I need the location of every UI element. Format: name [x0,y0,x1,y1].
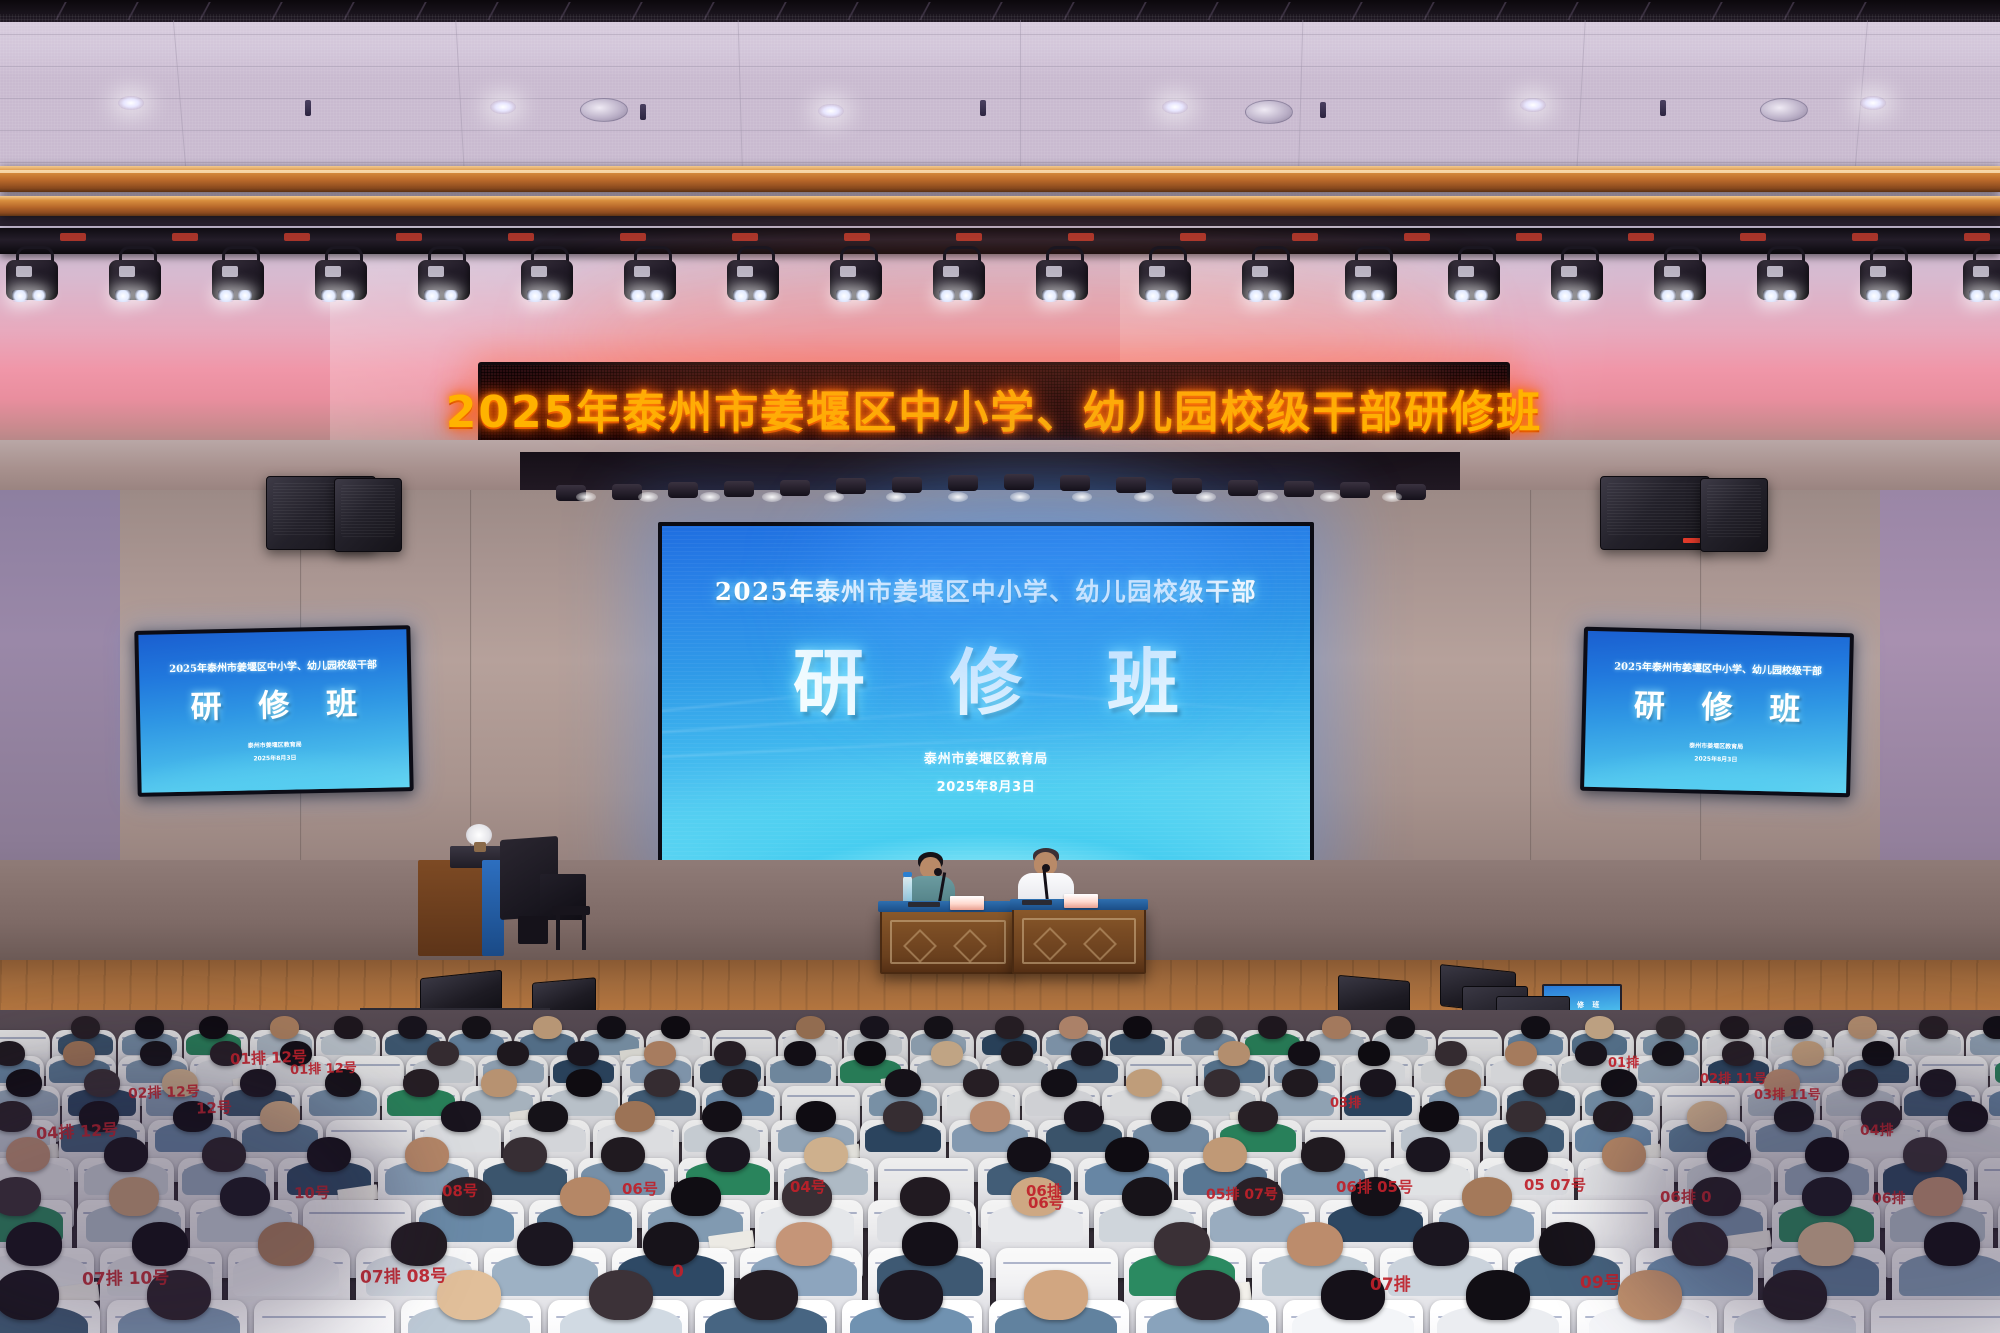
audience-member-head [643,1222,699,1266]
soffit-wash-light [1340,482,1370,498]
audience-member-head [1007,1137,1051,1172]
par-lens-secondary [135,290,149,301]
soffit-wash-light [836,478,866,494]
stage-par-light [4,246,60,312]
audience-member-head [1506,1101,1546,1132]
sprinkler-head [1320,102,1326,118]
audience-member-head [1301,1137,1345,1172]
truss-safety-clip [396,233,422,241]
par-lens [424,290,440,302]
par-lens-secondary [1062,290,1076,301]
audience-member-head [1322,1016,1351,1039]
soffit-light-glow [1320,492,1340,502]
audience-member-head [644,1069,680,1097]
audience-chair[interactable] [1871,1300,2000,1333]
audience-member-head [104,1137,148,1172]
truss-safety-clip [1068,233,1094,241]
audience-member-head [260,1101,300,1132]
par-label-tag [428,266,444,277]
par-label-tag [1458,266,1474,277]
audience-member-head [1288,1041,1320,1066]
audience-member-head [1176,1270,1240,1320]
audience-member-head [883,1101,923,1132]
audience-member-head [1151,1101,1191,1132]
desk-pad-right [1022,900,1052,905]
audience-member-head [6,1069,42,1097]
piano-pedal-column [518,916,548,944]
audience-member-head [1001,1041,1033,1066]
audience-member-head [597,1016,626,1039]
ceiling-smoke-detector [1760,98,1808,122]
audience-member-head [1842,1069,1878,1097]
audience-member-head [1652,1041,1684,1066]
par-lens [527,290,543,302]
audience-member-head [258,1222,314,1266]
audience-member-head [714,1041,746,1066]
audience-member-head [1154,1222,1210,1266]
audience-member-head [1602,1137,1646,1172]
stage-par-light [416,246,472,312]
left-monitor-surface: 2025年泰州市姜堰区中小学、幼儿园校级干部 研 修 班 泰州市姜堰区教育局 2… [138,629,409,793]
main-screen-surface: 2025年泰州市姜堰区中小学、幼儿园校级干部 研 修 班 泰州市姜堰区教育局 2… [662,526,1310,864]
truss-safety-clip [60,233,86,241]
audience-member-head [71,1016,100,1039]
audience-member-head [0,1177,41,1216]
ceiling-downlight [490,100,516,114]
par-lens-secondary [1577,290,1591,301]
soffit-light-glow [948,492,968,502]
audience-member-head [79,1101,119,1132]
ceiling-seam-vertical [1020,20,1021,190]
ceiling-smoke-detector [580,98,628,122]
audience-member-head [0,1041,25,1066]
ceiling-seam [0,162,2000,163]
stage-par-light [519,246,575,312]
par-label-tag [1252,266,1268,277]
soffit-light-glow [700,492,720,502]
right-side-monitor[interactable]: 2025年泰州市姜堰区中小学、幼儿园校级干部 研 修 班 泰州市姜堰区教育局 2… [1580,627,1854,798]
speaker-grille [1607,483,1703,535]
audience-chair[interactable] [254,1300,394,1333]
audience-member-head [804,1137,848,1172]
soffit-wash-light [1228,480,1258,496]
audience-member-head [1924,1222,1980,1266]
audience-member-head [796,1101,836,1132]
sprinkler-head [980,100,986,116]
soffit-light-glow [886,492,906,502]
stage-par-light [1549,246,1605,312]
conference-hall-photo: 2025年泰州市姜堰区中小学、幼儿园校级干部研修班 2025年泰州市姜堰区中小学… [0,0,2000,1333]
truss-safety-clip [1628,233,1654,241]
left-monitor-date: 2025年8月3日 [141,750,409,765]
audience-member-head [497,1041,529,1066]
audience-member-head [1064,1101,1104,1132]
audience-member-head [147,1270,211,1320]
audience-member-head [1521,1016,1550,1039]
audience-member-head [1672,1222,1728,1266]
speaker-grille [341,485,395,537]
par-lens-secondary [547,290,561,301]
audience-member-head [1321,1270,1385,1320]
par-lens-secondary [341,290,355,301]
screen-headline: 研 修 班 [662,624,1310,729]
left-monitor-organizer: 泰州市姜堰区教育局 [141,737,409,752]
led-banner-text: 2025年泰州市姜堰区中小学、幼儿园校级干部研修班 [446,376,1542,440]
audience-member-head [240,1069,276,1097]
left-side-monitor[interactable]: 2025年泰州市姜堰区中小学、幼儿园校级干部 研 修 班 泰州市姜堰区教育局 2… [134,625,413,797]
audience-member-head [1435,1041,1467,1066]
audience-member-head [6,1222,62,1266]
sprinkler-head [640,104,646,120]
par-lens-secondary [753,290,767,301]
audience-member-head [706,1137,750,1172]
par-lens-secondary [1268,290,1282,301]
audience-member-head [1585,1016,1614,1039]
audience-member-head [1948,1101,1988,1132]
audience-member-head [220,1177,270,1216]
left-monitor-headline: 研 修 班 [139,677,408,728]
audience-member-head [0,1270,59,1320]
par-lens-secondary [959,290,973,301]
audience-member-head [135,1016,164,1039]
sprinkler-head [305,100,311,116]
audience-member-head [403,1069,439,1097]
audience-member-head [1523,1069,1559,1097]
par-lens [321,290,337,302]
par-label-tag [1973,266,1989,277]
soffit-light-glow [1196,492,1216,502]
soffit-light-glow [576,492,596,502]
par-label-tag [1046,266,1062,277]
audience-member-head [1504,1137,1548,1172]
audience-member-head [1413,1222,1469,1266]
audience-member-head [734,1270,798,1320]
wall-speaker-right-b [1700,478,1768,552]
par-lens [1351,290,1367,302]
par-label-tag [1664,266,1680,277]
par-lens [733,290,749,302]
stage-par-light [828,246,884,312]
audience-member-head [334,1016,363,1039]
audience-member-head [1386,1016,1415,1039]
audience-member-head [601,1137,645,1172]
bench-leg [582,914,586,950]
par-lens [1248,290,1264,302]
screen-title-line: 2025年泰州市姜堰区中小学、幼儿园校级干部 [662,573,1310,608]
podium-table-left [880,908,1016,974]
audience-member-head [1011,1177,1061,1216]
par-lens [1145,290,1161,302]
par-lens [218,290,234,302]
audience-member-head [1862,1041,1894,1066]
audience-member-head [442,1177,492,1216]
soffit-wash-light [1284,481,1314,497]
par-label-tag [325,266,341,277]
audience-member-head [1059,1016,1088,1039]
audience-member-head [1258,1016,1287,1039]
name-card-right [1064,894,1098,908]
audience-member-head [1406,1137,1450,1172]
par-lens-secondary [1165,290,1179,301]
microphone-head-right [1042,864,1050,872]
stage-par-light [1755,246,1811,312]
audience-member-head [1360,1069,1396,1097]
par-label-tag [1767,266,1783,277]
audience-member-head [202,1137,246,1172]
soffit-light-glow [1258,492,1278,502]
audience-member-head [162,1069,198,1097]
ceiling-downlight [1860,96,1886,110]
audience-member-head [1041,1069,1077,1097]
sprinkler-head [1660,100,1666,116]
audience-member-head [199,1016,228,1039]
audience-member-head [1071,1041,1103,1066]
audience-member-head [427,1041,459,1066]
audience-member-head [902,1222,958,1266]
speaker-power-led [1683,538,1701,543]
par-label-tag [840,266,856,277]
truss-safety-clip [172,233,198,241]
stage-par-light [1961,246,2000,312]
par-label-tag [16,266,32,277]
stage-par-light [1652,246,1708,312]
audience-member-head [1123,1016,1152,1039]
soffit-light-glow [1072,492,1092,502]
audience-member-head [566,1069,602,1097]
audience-member-head [1848,1016,1877,1039]
par-lens-secondary [1474,290,1488,301]
stage-par-light [210,246,266,312]
par-label-tag [1561,266,1577,277]
audience-member-head [1575,1041,1607,1066]
vase-base [474,842,486,852]
audience-member-head [1920,1069,1956,1097]
audience-member-head [1720,1016,1749,1039]
audience-member-head [307,1137,351,1172]
par-lens-secondary [1371,290,1385,301]
audience-member-head [1218,1041,1250,1066]
soffit-wash-light [892,477,922,493]
soffit-wash-light [1004,474,1034,490]
water-bottle [903,876,912,904]
audience-member-head [398,1016,427,1039]
audience-member-head [702,1101,742,1132]
truss-safety-clip [508,233,534,241]
par-lens-secondary [238,290,252,301]
audience-member-head [140,1041,172,1066]
audience-member-head [1122,1177,1172,1216]
audience-member-head [924,1016,953,1039]
desk-pad-left [908,902,940,907]
audience-member-head [528,1101,568,1132]
audience-member-head [1792,1041,1824,1066]
audience-member-head [132,1222,188,1266]
audience-member-head [280,1041,312,1066]
audience-member-head [1539,1222,1595,1266]
ceiling-seam [0,130,2000,131]
audience-member-head [109,1177,159,1216]
truss-safety-clip [1964,233,1990,241]
stage-par-light [1343,246,1399,312]
stage-par-light [313,246,369,312]
audience-member-head [1983,1016,2000,1039]
bench-leg [556,914,560,950]
audience-member-head [441,1101,481,1132]
name-card-left [950,896,984,910]
ceiling-downlight [1162,100,1188,114]
audience-member-head [270,1016,299,1039]
audience-member-head [661,1016,690,1039]
audience-member-head [560,1177,610,1216]
par-lens [12,290,28,302]
ceiling-wood-beam-upper [0,166,2000,192]
soffit-wash-light [1060,475,1090,491]
ceiling-seam [0,98,2000,99]
truss-safety-clip [732,233,758,241]
stage-par-light [1858,246,1914,312]
truss-safety-clip [1740,233,1766,241]
right-monitor-date: 2025年8月3日 [1585,751,1847,766]
audience-member-head [1126,1069,1162,1097]
audience-member-head [1105,1137,1149,1172]
audience-member-head [1233,1177,1283,1216]
audience-member-head [0,1101,32,1132]
audience-member-head [879,1270,943,1320]
audience-member-head [1861,1101,1901,1132]
par-lens-secondary [1886,290,1900,301]
podium-table-right [1012,906,1146,974]
left-monitor-title: 2025年泰州市姜堰区中小学、幼儿园校级干部 [139,655,407,676]
audience-member-head [1024,1270,1088,1320]
speaker-grille [1707,485,1761,537]
par-lens-secondary [650,290,664,301]
truss-safety-clip [284,233,310,241]
audience-member-head [405,1137,449,1172]
truss-safety-clip [844,233,870,241]
audience-member-head [1687,1101,1727,1132]
main-led-screen[interactable]: 2025年泰州市姜堰区中小学、幼儿园校级干部 研 修 班 泰州市姜堰区教育局 2… [658,522,1314,868]
ceiling-downlight [818,104,844,118]
audience-member-head [1805,1137,1849,1172]
truss-safety-clip [1180,233,1206,241]
audience-member-head [784,1041,816,1066]
audience-member-head [1593,1101,1633,1132]
par-label-tag [737,266,753,277]
soffit-light-glow [824,492,844,502]
audience-member-head [1203,1137,1247,1172]
audience-member-head [885,1069,921,1097]
par-lens [1763,290,1779,302]
audience-member-head [1351,1177,1401,1216]
beam-highlight [0,170,2000,173]
wall-speaker-right-a [1600,476,1710,550]
soffit-light-glow [1134,492,1154,502]
audience-member-head [517,1222,573,1266]
audience-member-head [782,1177,832,1216]
stage-par-light [107,246,163,312]
ceiling-downlight [118,96,144,110]
par-lens [939,290,955,302]
audience-member-head [722,1069,758,1097]
audience-member-head [931,1041,963,1066]
audience-member-head [1784,1016,1813,1039]
audience-member-head [1601,1069,1637,1097]
stage-par-light [931,246,987,312]
audience-member-head [462,1016,491,1039]
audience-member-head [1194,1016,1223,1039]
par-label-tag [1870,266,1886,277]
audience-member-head [503,1137,547,1172]
par-lens-secondary [856,290,870,301]
par-label-tag [531,266,547,277]
par-lens-secondary [444,290,458,301]
par-label-tag [1355,266,1371,277]
truss-safety-clip [1516,233,1542,241]
par-lens [1660,290,1676,302]
soffit-wash-light [948,475,978,491]
podium-table-top-left [878,901,1018,912]
audience-member-head [900,1177,950,1216]
audience-member-head [6,1137,50,1172]
audience-member-head [1764,1069,1800,1097]
ceiling-seam [0,66,2000,67]
par-lens-secondary [1783,290,1797,301]
audience-member-head [533,1016,562,1039]
soffit-light-glow [638,492,658,502]
right-monitor-headline: 研 修 班 [1586,679,1849,730]
audience-member-head [1691,1177,1741,1216]
truss-safety-clip [1404,233,1430,241]
soffit-wash-light [780,480,810,496]
audience-member-head [1287,1222,1343,1266]
audience-member-head [1798,1222,1854,1266]
soffit-light-glow [1010,492,1030,502]
ceiling-downlight [1520,98,1546,112]
soffit-wash-light [668,482,698,498]
audience-member-head [84,1069,120,1097]
right-monitor-surface: 2025年泰州市姜堰区中小学、幼儿园校级干部 研 修 班 泰州市姜堰区教育局 2… [1584,631,1850,793]
audience-member-head [615,1101,655,1132]
audience-member-head [1282,1069,1318,1097]
truss-safety-clip [1852,233,1878,241]
audience-member-head [1656,1016,1685,1039]
microphone-head-left [934,868,942,876]
par-label-tag [1149,266,1165,277]
ceiling-seam [0,34,2000,35]
audience-member-head [970,1101,1010,1132]
led-banner-panel: 2025年泰州市姜堰区中小学、幼儿园校级干部研修班 [481,365,1507,451]
audience-member-head [173,1101,213,1132]
audience-member-head [325,1069,361,1097]
audience-member-head [963,1069,999,1097]
audience-member-head [1505,1041,1537,1066]
audience-member-head [391,1222,447,1266]
audience-member-head [995,1016,1024,1039]
screen-organizer: 泰州市姜堰区教育局 [662,748,1310,767]
truss-safety-clip [620,233,646,241]
audience-member-head [671,1177,721,1216]
soffit-wash-light [1116,477,1146,493]
par-lens [1866,290,1882,302]
audience-member-head [644,1041,676,1066]
stage-par-light [1034,246,1090,312]
par-lens [1454,290,1470,302]
soffit-wash-light [724,481,754,497]
par-lens [1042,290,1058,302]
audience-member-head [1903,1137,1947,1172]
par-lens [115,290,131,302]
truss-safety-clip [956,233,982,241]
